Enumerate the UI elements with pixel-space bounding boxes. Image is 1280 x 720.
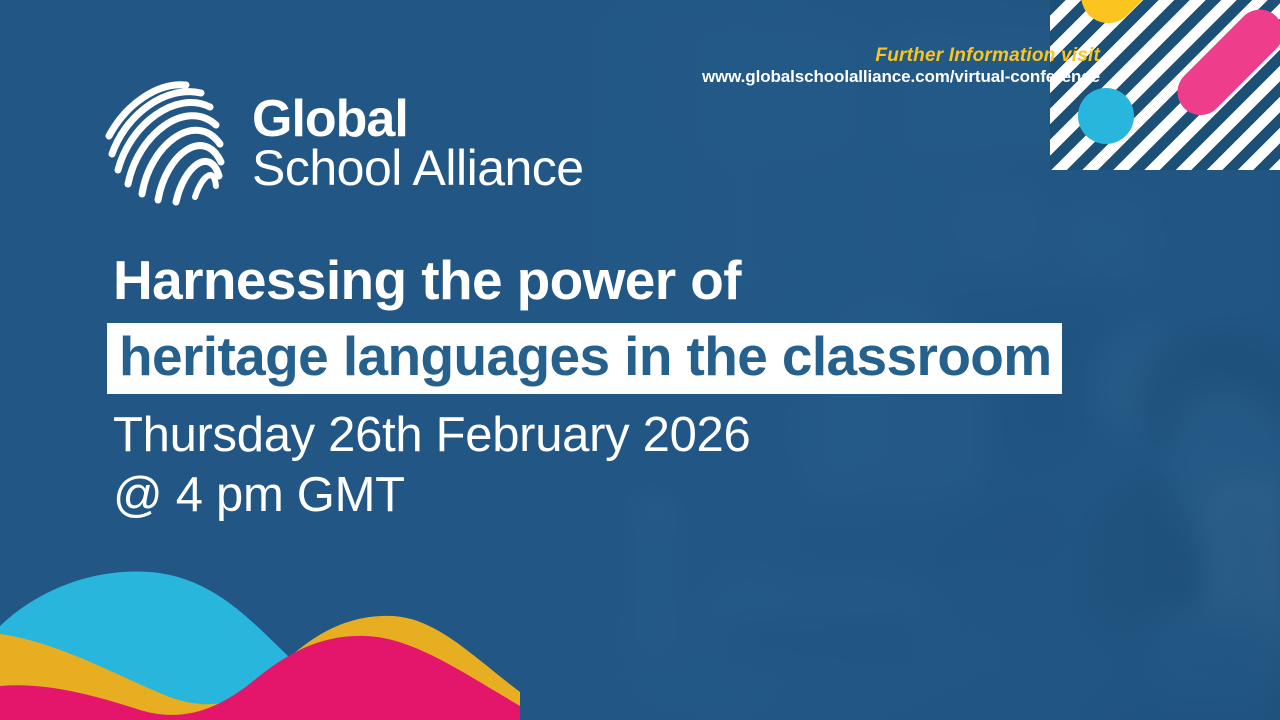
- brand-logo: Global School Alliance: [100, 76, 584, 206]
- bottom-left-waves: [0, 530, 520, 720]
- headline-line-1: Harnessing the power of: [113, 252, 1207, 310]
- cyan-circle-shape: [1078, 88, 1134, 144]
- event-datetime: Thursday 26th February 2026 @ 4 pm GMT: [113, 406, 750, 526]
- conference-url[interactable]: www.globalschoolalliance.com/virtual-con…: [702, 67, 1100, 88]
- further-information-label: Further Information visit: [702, 44, 1100, 67]
- logo-wordmark: Global School Alliance: [252, 90, 584, 193]
- headline: Harnessing the power of heritage languag…: [107, 252, 1207, 394]
- globe-icon: [100, 76, 230, 206]
- event-date: Thursday 26th February 2026: [113, 406, 750, 466]
- headline-highlight-bar: heritage languages in the classroom: [107, 323, 1062, 394]
- further-information-block: Further Information visit www.globalscho…: [702, 44, 1100, 88]
- logo-name-secondary: School Alliance: [252, 144, 584, 193]
- headline-line-2: heritage languages in the classroom: [119, 325, 1052, 387]
- event-time: @ 4 pm GMT: [113, 466, 750, 526]
- webinar-promo-poster: Further Information visit www.globalscho…: [0, 0, 1280, 720]
- logo-name-primary: Global: [252, 94, 584, 144]
